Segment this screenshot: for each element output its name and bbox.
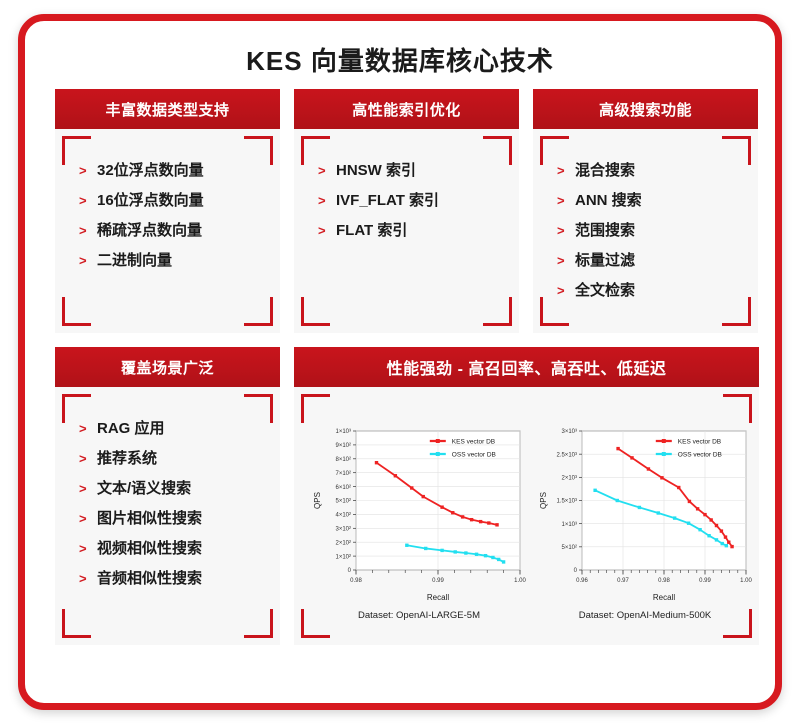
cards-row-top: 丰富数据类型支持 >32位浮点数向量 >16位浮点数向量 >稀疏浮点数向量 >二…: [55, 89, 759, 333]
card-body-scenarios: >RAG 应用 >推荐系统 >文本/语义搜索 >图片相似性搜索 >视频相似性搜索…: [55, 387, 280, 645]
poster-container: KES 向量数据库核心技术 丰富数据类型支持 >32位浮点数向量 >16位浮点数…: [18, 14, 782, 710]
card-header-data-types: 丰富数据类型支持: [55, 89, 280, 129]
cards-grid: 丰富数据类型支持 >32位浮点数向量 >16位浮点数向量 >稀疏浮点数向量 >二…: [55, 89, 759, 645]
card-body-performance: 01×10²2×10²3×10²4×10²5×10²6×10²7×10²8×10…: [294, 387, 759, 645]
corner-brackets: [55, 129, 280, 333]
card-header-performance: 性能强劲 - 高召回率、高吞吐、低延迟: [294, 347, 759, 387]
corner-brackets: [294, 129, 519, 333]
card-advanced-search: 高级搜索功能 >混合搜索 >ANN 搜索 >范围搜索 >标量过滤 >全文检索: [533, 89, 758, 333]
card-index-optimization: 高性能索引优化 >HNSW 索引 >IVF_FLAT 索引 >FLAT 索引: [294, 89, 519, 333]
corner-brackets: [294, 387, 759, 645]
card-header-advanced-search: 高级搜索功能: [533, 89, 758, 129]
card-body-data-types: >32位浮点数向量 >16位浮点数向量 >稀疏浮点数向量 >二进制向量: [55, 129, 280, 333]
card-scenarios: 覆盖场景广泛 >RAG 应用 >推荐系统 >文本/语义搜索 >图片相似性搜索 >…: [55, 347, 280, 645]
corner-brackets: [55, 387, 280, 645]
card-body-advanced-search: >混合搜索 >ANN 搜索 >范围搜索 >标量过滤 >全文检索: [533, 129, 758, 333]
page-title: KES 向量数据库核心技术: [25, 41, 775, 78]
card-data-types: 丰富数据类型支持 >32位浮点数向量 >16位浮点数向量 >稀疏浮点数向量 >二…: [55, 89, 280, 333]
card-header-index-optimization: 高性能索引优化: [294, 89, 519, 129]
card-header-scenarios: 覆盖场景广泛: [55, 347, 280, 387]
card-body-index-optimization: >HNSW 索引 >IVF_FLAT 索引 >FLAT 索引: [294, 129, 519, 333]
cards-row-bottom: 覆盖场景广泛 >RAG 应用 >推荐系统 >文本/语义搜索 >图片相似性搜索 >…: [55, 347, 759, 645]
card-performance: 性能强劲 - 高召回率、高吞吐、低延迟 01×10²2×10²3×10²4×10…: [294, 347, 759, 645]
corner-brackets: [533, 129, 758, 333]
